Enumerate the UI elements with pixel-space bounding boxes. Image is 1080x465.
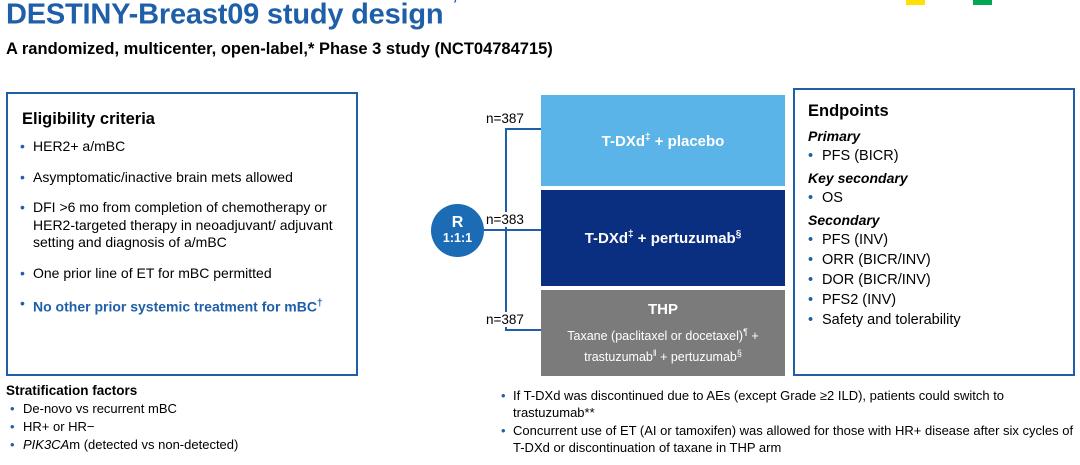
logo-green-mark	[973, 0, 992, 5]
endpoints-heading: Endpoints	[808, 102, 889, 121]
bullet-icon: •	[6, 437, 23, 453]
arm-title: THP	[648, 301, 678, 318]
randomization-ratio: 1:1:1	[443, 231, 472, 246]
note-label: Concurrent use of ET (AI or tamoxifen) w…	[513, 423, 1076, 456]
list-item: • PIK3CAm (detected vs non-detected)	[6, 437, 366, 453]
list-item: • OS	[808, 188, 1066, 208]
list-item: • Asymptomatic/inactive brain mets allow…	[20, 169, 352, 187]
endpoints-group-title: Secondary	[808, 212, 1066, 228]
bullet-icon: •	[808, 310, 822, 330]
bullet-icon: •	[501, 423, 513, 456]
eligibility-criteria-box: Eligibility criteria • HER2+ a/mBC • Asy…	[6, 92, 358, 376]
bullet-icon: •	[6, 401, 23, 417]
list-item: • DOR (BICR/INV)	[808, 270, 1066, 290]
stratification-item-label: PIK3CAm (detected vs non-detected)	[23, 437, 238, 453]
connector-branch-bottom	[505, 329, 542, 331]
arm-title-tail: + pertuzumab	[634, 230, 736, 247]
connector-branch-middle	[505, 229, 542, 231]
list-item: • HR+ or HR−	[6, 419, 366, 435]
list-item: • PFS2 (INV)	[808, 290, 1066, 310]
n-label-arm3: n=387	[484, 312, 526, 327]
endpoints-group-key-secondary: Key secondary • OS	[808, 170, 1066, 208]
arm-title: T-DXd‡ + placebo	[602, 132, 725, 150]
endpoints-group-secondary: Secondary • PFS (INV) • ORR (BICR/INV) •…	[808, 212, 1066, 330]
endpoint-label: PFS2 (INV)	[822, 290, 896, 310]
arm-subtitle-line2-mid: + pertuzumab	[657, 350, 737, 364]
endpoints-group-primary: Primary • PFS (BICR)	[808, 128, 1066, 166]
bullet-icon: •	[808, 270, 822, 290]
endpoints-box: Endpoints Primary • PFS (BICR) Key secon…	[793, 88, 1075, 376]
eligibility-heading: Eligibility criteria	[22, 110, 155, 129]
randomization-circle: R 1:1:1	[431, 204, 484, 257]
bullet-icon: •	[20, 169, 33, 187]
list-item: • PFS (BICR)	[808, 146, 1066, 166]
stratification-factors: Stratification factors • De-novo vs recu…	[6, 383, 366, 455]
arm-subtitle-line1: Taxane (paclitaxel or docetaxel)	[567, 330, 743, 344]
endpoint-label: PFS (BICR)	[822, 146, 899, 166]
arm-subtitle: Taxane (paclitaxel or docetaxel)¶ + tras…	[557, 324, 768, 364]
stratification-item-label: HR+ or HR−	[23, 419, 95, 435]
list-item: • Concurrent use of ET (AI or tamoxifen)…	[501, 423, 1076, 456]
stratification-item-text: m (detected vs non-detected)	[69, 437, 238, 452]
endpoints-group-title: Primary	[808, 128, 1066, 144]
bullet-icon: •	[20, 265, 33, 283]
eligibility-item-label: HER2+ a/mBC	[33, 138, 352, 156]
page-title-superscript: 1,2	[443, 0, 466, 4]
treatment-arm-t-dxd-placebo: T-DXd‡ + placebo	[541, 95, 785, 186]
bullet-icon: •	[808, 250, 822, 270]
arm-title-text: T-DXd	[585, 230, 628, 247]
list-item: • HER2+ a/mBC	[20, 138, 352, 156]
footnote-marker: §	[736, 229, 742, 240]
bottom-notes: • If T-DXd was discontinued due to AEs (…	[501, 388, 1076, 458]
endpoint-label: OS	[822, 188, 843, 208]
connector-branch-top	[505, 128, 542, 130]
page-title: DESTINY-Breast09 study design1,2	[6, 0, 466, 32]
arm-subtitle-line1-tail: +	[748, 330, 759, 344]
bullet-icon: •	[20, 295, 33, 316]
list-item: • De-novo vs recurrent mBC	[6, 401, 366, 417]
arm-title-tail: + placebo	[651, 133, 725, 150]
randomization-letter: R	[452, 215, 464, 231]
bullet-icon: •	[6, 419, 23, 435]
page-title-text: DESTINY-Breast09 study design	[6, 0, 443, 31]
footnote-marker: §	[737, 348, 742, 358]
bullet-icon: •	[20, 138, 33, 156]
n-label-arm2: n=383	[484, 212, 526, 227]
eligibility-item-label: Asymptomatic/inactive brain mets allowed	[33, 169, 352, 187]
connector-stem	[484, 229, 506, 231]
stratification-heading: Stratification factors	[6, 383, 366, 398]
treatment-arm-t-dxd-pertuzumab: T-DXd‡ + pertuzumab§	[541, 190, 785, 286]
list-item: • One prior line of ET for mBC permitted	[20, 265, 352, 283]
endpoint-label: DOR (BICR/INV)	[822, 270, 931, 290]
eligibility-list: • HER2+ a/mBC • Asymptomatic/inactive br…	[20, 138, 352, 329]
bullet-icon: •	[20, 199, 33, 252]
endpoints-groups: Primary • PFS (BICR) Key secondary • OS …	[808, 128, 1066, 334]
arm-title: T-DXd‡ + pertuzumab§	[585, 229, 742, 247]
bullet-icon: •	[808, 188, 822, 208]
endpoint-label: Safety and tolerability	[822, 310, 961, 330]
bullet-icon: •	[808, 146, 822, 166]
eligibility-item-label: One prior line of ET for mBC permitted	[33, 265, 352, 283]
note-label: If T-DXd was discontinued due to AEs (ex…	[513, 388, 1076, 421]
treatment-arm-thp: THP Taxane (paclitaxel or docetaxel)¶ + …	[541, 290, 785, 376]
list-item: • Safety and tolerability	[808, 310, 1066, 330]
footnote-marker: †	[317, 298, 323, 309]
endpoint-label: ORR (BICR/INV)	[822, 250, 931, 270]
eligibility-item-label: No other prior systemic treatment for mB…	[33, 295, 352, 316]
list-item: • If T-DXd was discontinued due to AEs (…	[501, 388, 1076, 421]
endpoint-label: PFS (INV)	[822, 230, 888, 250]
logo-yellow-mark	[906, 0, 925, 5]
arm-title-text: T-DXd	[602, 133, 645, 150]
list-item-highlighted: • No other prior systemic treatment for …	[20, 295, 352, 316]
n-label-arm1: n=387	[484, 111, 526, 126]
list-item: • DFI >6 mo from completion of chemother…	[20, 199, 352, 252]
list-item: • PFS (INV)	[808, 230, 1066, 250]
endpoints-group-title: Key secondary	[808, 170, 1066, 186]
bullet-icon: •	[501, 388, 513, 421]
list-item: • ORR (BICR/INV)	[808, 250, 1066, 270]
stratification-item-label: De-novo vs recurrent mBC	[23, 401, 177, 417]
arm-subtitle-line2: trastuzumab	[584, 350, 653, 364]
gene-name: PIK3CA	[23, 437, 69, 452]
eligibility-item-label: DFI >6 mo from completion of chemotherap…	[33, 199, 352, 252]
eligibility-item-text: No other prior systemic treatment for mB…	[33, 299, 317, 315]
bullet-icon: •	[808, 290, 822, 310]
bullet-icon: •	[808, 230, 822, 250]
page-subtitle: A randomized, multicenter, open-label,* …	[6, 40, 553, 59]
